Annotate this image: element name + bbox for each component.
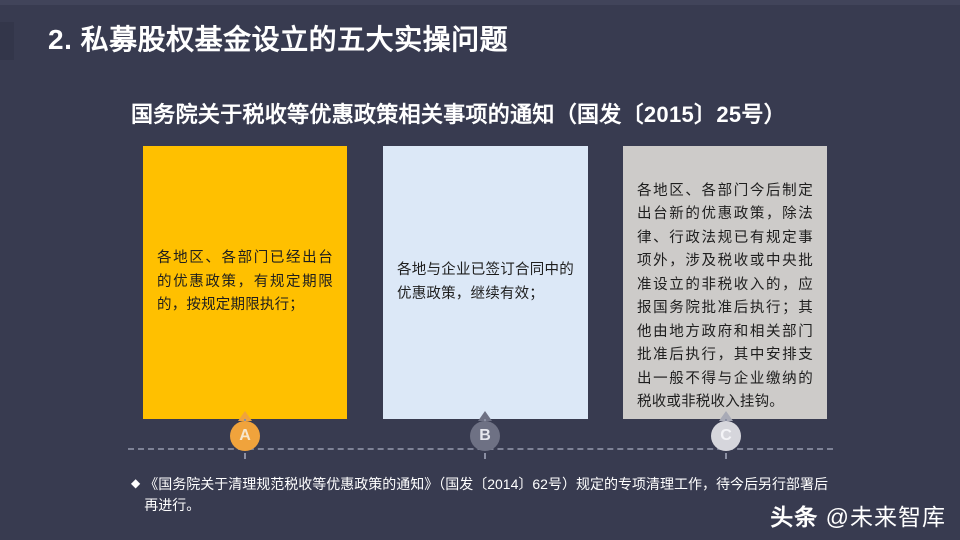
marker-b-label: B [470,421,500,451]
policy-card-a: 各地区、各部门已经出台的优惠政策，有规定期限的，按规定期限执行； [143,146,347,419]
watermark-brand: 头条 [770,504,818,530]
section-subtitle: 国务院关于税收等优惠政策相关事项的通知（国发〔2015〕25号） [131,97,786,129]
title-left-marker [0,22,14,60]
watermark: 头条 @未来智库 [770,498,946,532]
policy-card-c-text: 各地区、各部门今后制定出台新的优惠政策，除法律、行政法规已有规定事项外，涉及税收… [637,180,813,415]
top-accent-band [0,0,960,5]
footnote: ◆ 《国务院关于清理规范税收等优惠政策的通知》（国发〔2014〕62号）规定的专… [131,474,831,516]
marker-c-label: C [711,421,741,451]
marker-a-label: A [230,421,260,451]
page-title: 2. 私募股权基金设立的五大实操问题 [48,18,508,58]
policy-card-b: 各地与企业已签订合同中的优惠政策，继续有效； [383,146,588,419]
diamond-bullet-icon: ◆ [131,474,140,494]
policy-card-a-text: 各地区、各部门已经出台的优惠政策，有规定期限的，按规定期限执行； [157,247,333,317]
watermark-handle: @未来智库 [826,504,946,530]
policy-card-c: 各地区、各部门今后制定出台新的优惠政策，除法律、行政法规已有规定事项外，涉及税收… [623,146,827,419]
slide-canvas: 2. 私募股权基金设立的五大实操问题 国务院关于税收等优惠政策相关事项的通知（国… [0,0,960,540]
policy-card-b-text: 各地与企业已签订合同中的优惠政策，继续有效； [397,259,574,306]
footnote-text: 《国务院关于清理规范税收等优惠政策的通知》（国发〔2014〕62号）规定的专项清… [144,474,831,516]
